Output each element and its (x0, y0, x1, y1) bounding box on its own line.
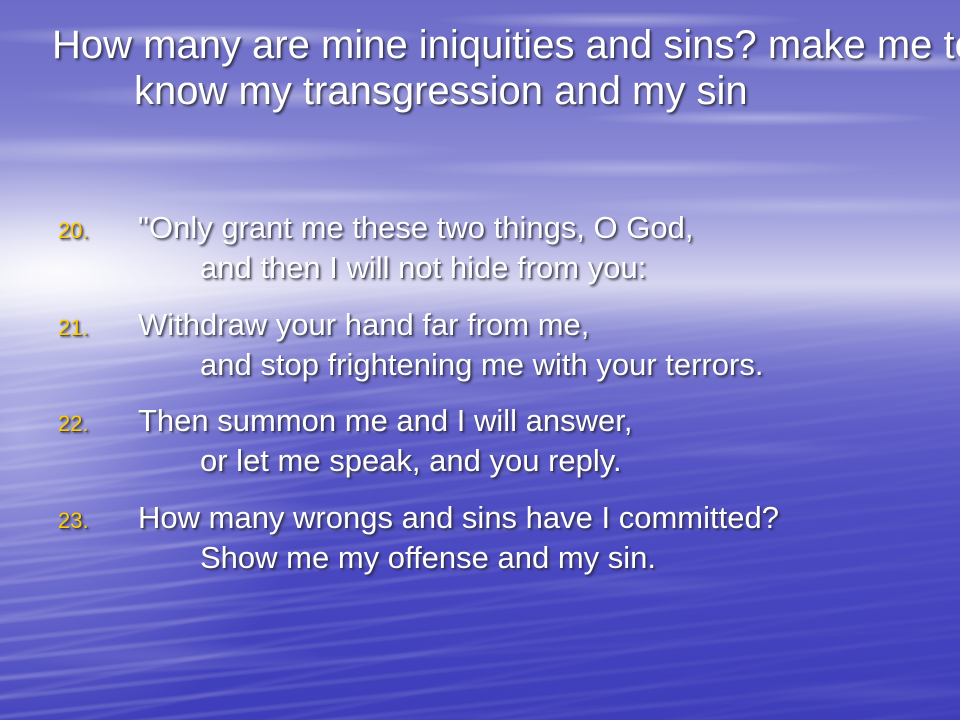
verse-line-1: Withdraw your hand far from me, (138, 307, 589, 342)
verse-item: 20. "Only grant me these two things, O G… (52, 208, 932, 289)
verse-line-2: or let me speak, and you reply. (138, 441, 932, 481)
verse-text: "Only grant me these two things, O God,a… (138, 210, 932, 289)
verse-line-1: How many wrongs and sins have I committe… (138, 500, 779, 535)
verse-line-2: Show me my offense and my sin. (138, 538, 932, 578)
verse-line-2: and stop frightening me with your terror… (138, 345, 932, 385)
slide-title: How many are mine iniquities and sins? m… (52, 22, 960, 115)
verse-line-2: and then I will not hide from you: (138, 248, 932, 288)
verse-text: How many wrongs and sins have I committe… (138, 500, 932, 579)
verse-text: Then summon me and I will answer,or let … (138, 403, 932, 482)
verse-item: 23. How many wrongs and sins have I comm… (52, 498, 932, 579)
slide-title-line-3: and my sin (554, 69, 747, 113)
verse-text: Withdraw your hand far from me,and stop … (138, 307, 932, 386)
verse-number: 20. (58, 218, 112, 244)
verse-number: 21. (58, 315, 112, 341)
slide-content: How many are mine iniquities and sins? m… (0, 0, 960, 720)
presentation-slide: How many are mine iniquities and sins? m… (0, 0, 960, 720)
verse-line-1: "Only grant me these two things, O God, (138, 210, 694, 245)
verse-line-1: Then summon me and I will answer, (138, 403, 633, 438)
verse-item: 22. Then summon me and I will answer,or … (52, 401, 932, 482)
slide-title-line-1: How many are mine iniquities and sins? (52, 23, 757, 67)
verse-list: 20. "Only grant me these two things, O G… (52, 208, 932, 594)
verse-number: 23. (58, 508, 112, 534)
verse-item: 21. Withdraw your hand far from me,and s… (52, 305, 932, 386)
verse-number: 22. (58, 411, 112, 437)
